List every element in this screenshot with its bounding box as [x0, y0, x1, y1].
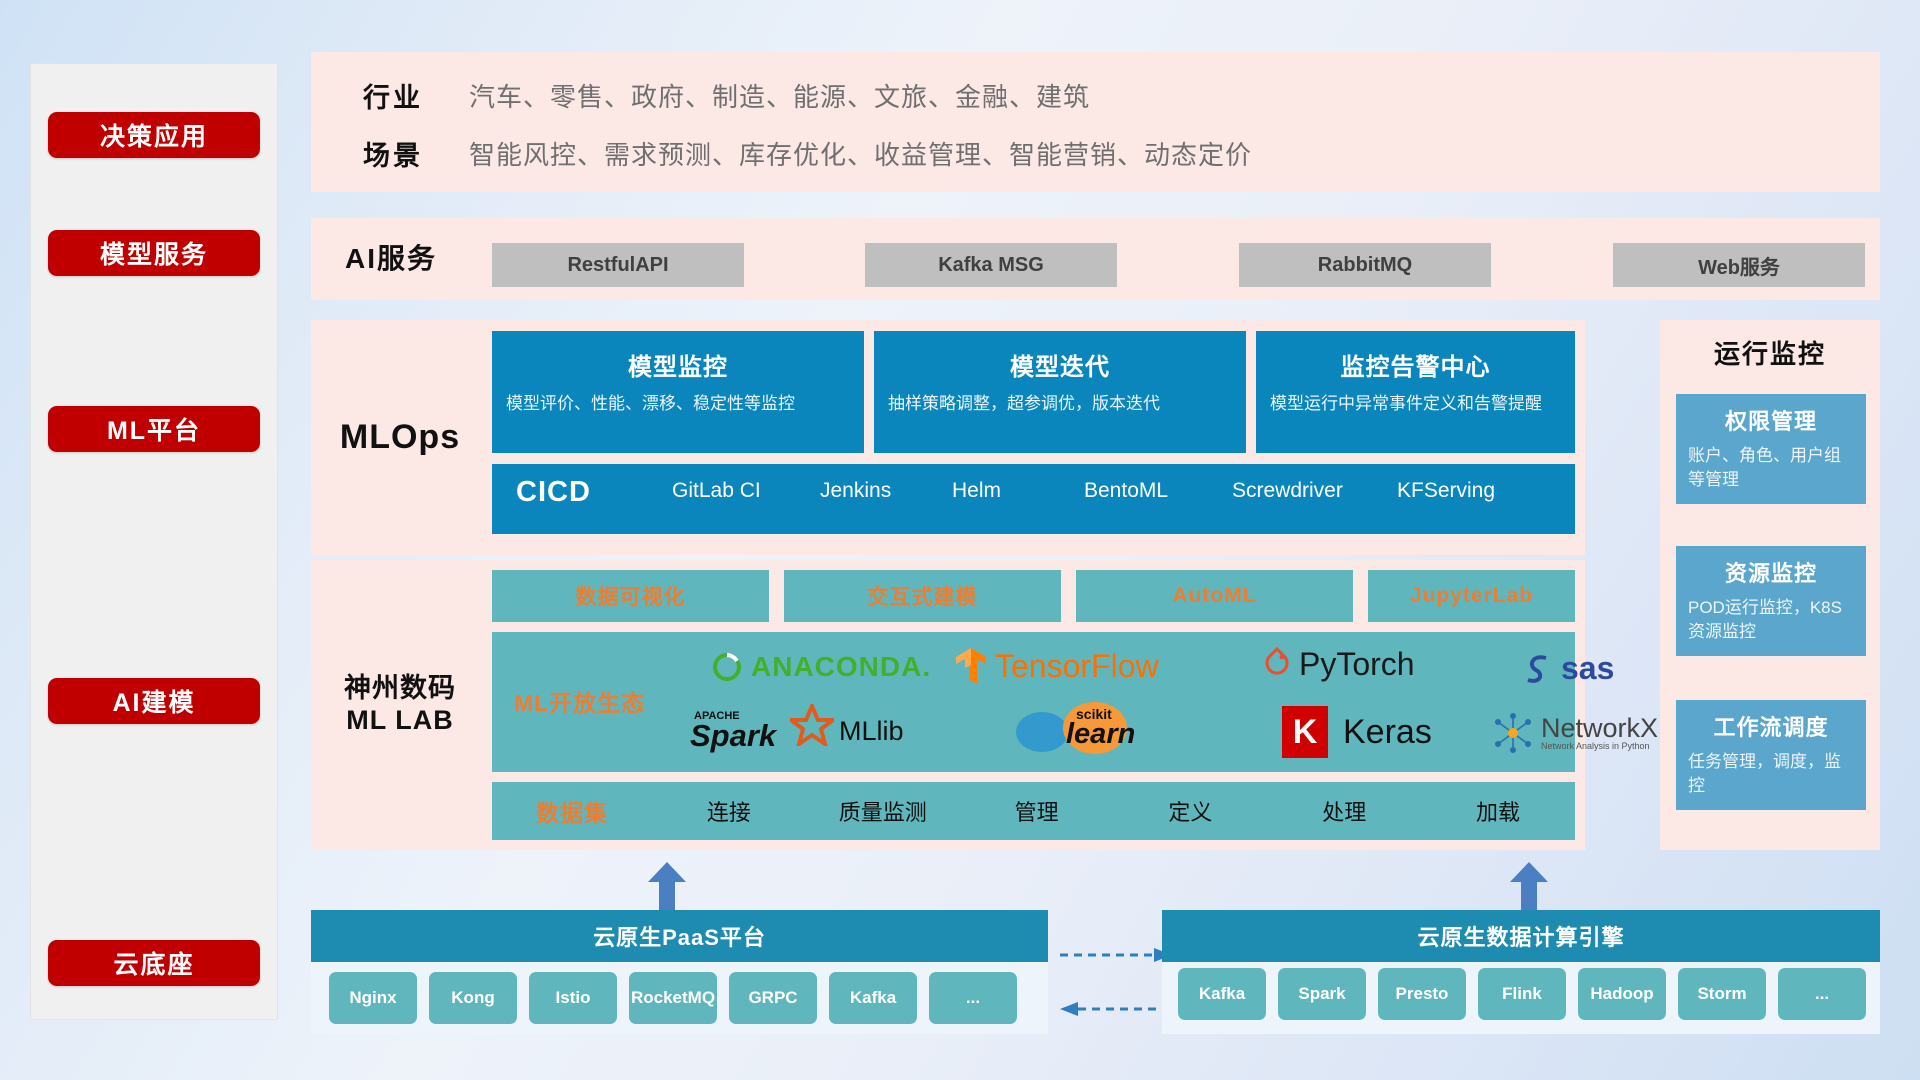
anaconda-icon: [710, 650, 744, 684]
cloud-paas-header: 云原生PaaS平台: [311, 910, 1048, 962]
tensorflow-logo: TensorFlow: [954, 646, 1159, 686]
cicd-item-screwdriver[interactable]: Screwdriver: [1232, 478, 1347, 504]
mlops-card-title: 监控告警中心: [1270, 347, 1561, 382]
tool-chip-interactive-modeling[interactable]: 交互式建模: [784, 570, 1061, 622]
cicd-item-bentoml[interactable]: BentoML: [1084, 478, 1199, 504]
dataset-item-manage[interactable]: 管理: [960, 795, 1114, 827]
layer-chip-decision-app[interactable]: 决策应用: [48, 112, 260, 158]
dataset-band: 数据集 连接 质量监测 管理 定义 处理 加载: [492, 782, 1575, 840]
ai-service-label: AI服务: [311, 218, 471, 300]
paas-chip-grpc[interactable]: GRPC: [729, 972, 817, 1024]
monitoring-card-desc: POD运行监控，K8S资源监控: [1688, 596, 1854, 644]
networkx-logo: NetworkX Network Analysis in Python: [1492, 712, 1658, 754]
keras-mark: K: [1282, 706, 1328, 758]
monitoring-card-desc: 任务管理，调度，监控: [1688, 750, 1854, 798]
cicd-item-kfserving[interactable]: KFServing: [1397, 478, 1512, 504]
dataset-item-load[interactable]: 加载: [1421, 795, 1575, 827]
mlops-card-model-iteration[interactable]: 模型迭代 抽样策略调整，超参调优，版本迭代: [874, 331, 1246, 453]
mlops-card-desc: 抽样策略调整，超参调优，版本迭代: [888, 392, 1232, 417]
mlops-card-desc: 模型评价、性能、漂移、稳定性等监控: [506, 392, 850, 417]
paas-chip-rocketmq[interactable]: RocketMQ: [629, 972, 717, 1024]
monitoring-card-title: 工作流调度: [1688, 710, 1854, 742]
dashed-arrow-left-icon: [1060, 1000, 1172, 1018]
networkx-logo-text: NetworkX: [1541, 714, 1658, 742]
tensorflow-icon: [954, 646, 988, 686]
engine-chip-flink[interactable]: Flink: [1478, 968, 1566, 1020]
cicd-item-jenkins[interactable]: Jenkins: [820, 478, 935, 504]
pytorch-icon: [1262, 647, 1292, 683]
paas-chip-kong[interactable]: Kong: [429, 972, 517, 1024]
scenario-values: 智能风控、需求预测、库存优化、收益管理、智能营销、动态定价: [469, 130, 1252, 176]
service-button-restfulapi[interactable]: RestfulAPI: [492, 243, 744, 287]
ml-lab-label-line2: ML LAB: [344, 705, 456, 737]
mllib-text: MLlib: [839, 716, 904, 747]
keras-logo-text: Keras: [1343, 713, 1432, 752]
tensorflow-logo-text: TensorFlow: [995, 648, 1159, 685]
pytorch-logo: PyTorch: [1262, 646, 1415, 683]
anaconda-logo-text: ANACONDA.: [751, 651, 931, 683]
monitoring-card-title: 资源监控: [1688, 556, 1854, 588]
service-button-rabbitmq[interactable]: RabbitMQ: [1239, 243, 1491, 287]
dataset-item-quality[interactable]: 质量监测: [806, 795, 960, 827]
ml-lab-label-line1: 神州数码: [344, 673, 456, 705]
service-button-kafka-msg[interactable]: Kafka MSG: [865, 243, 1117, 287]
monitoring-card-title: 权限管理: [1688, 404, 1854, 436]
networkx-icon: [1492, 712, 1534, 754]
up-arrow-data-engine-icon: [1510, 862, 1548, 914]
spark-mllib-logo: APACHE Spark MLlib: [690, 708, 904, 754]
monitoring-card-resource[interactable]: 资源监控 POD运行监控，K8S资源监控: [1676, 546, 1866, 656]
spark-word-text: Spark: [690, 718, 776, 754]
paas-chip-nginx[interactable]: Nginx: [329, 972, 417, 1024]
dataset-label: 数据集: [492, 794, 652, 828]
mlops-card-desc: 模型运行中异常事件定义和告警提醒: [1270, 392, 1561, 417]
mlops-label: MLOps: [311, 320, 489, 555]
layer-chip-ai-modeling[interactable]: AI建模: [48, 678, 260, 724]
scenario-label: 场景: [333, 130, 453, 176]
cicd-bar: CICD GitLab CI Jenkins Helm BentoML Scre…: [492, 464, 1575, 534]
paas-chip-istio[interactable]: Istio: [529, 972, 617, 1024]
paas-chip-kafka[interactable]: Kafka: [829, 972, 917, 1024]
mlops-card-model-monitoring[interactable]: 模型监控 模型评价、性能、漂移、稳定性等监控: [492, 331, 864, 453]
monitoring-card-permission[interactable]: 权限管理 账户、角色、用户组等管理: [1676, 394, 1866, 504]
cicd-item-helm[interactable]: Helm: [952, 478, 1067, 504]
layer-chip-ml-platform[interactable]: ML平台: [48, 406, 260, 452]
architecture-diagram: 决策应用 模型服务 ML平台 AI建模 云底座 行业 汽车、零售、政府、制造、能…: [0, 0, 1920, 1080]
sas-logo-text: sas: [1561, 650, 1614, 687]
industry-scenario-panel: 行业 汽车、零售、政府、制造、能源、文旅、金融、建筑 场景 智能风控、需求预测、…: [311, 52, 1880, 192]
monitoring-card-workflow[interactable]: 工作流调度 任务管理，调度，监控: [1676, 700, 1866, 810]
dataset-item-define[interactable]: 定义: [1113, 795, 1267, 827]
paas-chip-more[interactable]: ...: [929, 972, 1017, 1024]
tool-chip-jupyterlab[interactable]: JupyterLab: [1368, 570, 1575, 622]
spark-mark: APACHE Spark: [690, 708, 830, 754]
mlops-card-title: 模型监控: [506, 347, 850, 382]
scikit-learn-logo: scikit learn: [1014, 704, 1150, 756]
dataset-item-process[interactable]: 处理: [1267, 795, 1421, 827]
ml-lab-label: 神州数码 ML LAB: [311, 560, 489, 850]
tool-chip-data-visualization[interactable]: 数据可视化: [492, 570, 769, 622]
ml-ecosystem-label: ML开放生态: [514, 684, 645, 718]
monitoring-title: 运行监控: [1660, 326, 1880, 378]
layer-chip-model-service[interactable]: 模型服务: [48, 230, 260, 276]
layer-rail: [30, 63, 278, 1020]
cloud-data-engine-header: 云原生数据计算引擎: [1162, 910, 1880, 962]
dataset-item-connect[interactable]: 连接: [652, 795, 806, 827]
engine-chip-presto[interactable]: Presto: [1378, 968, 1466, 1020]
industry-label: 行业: [333, 72, 453, 118]
ml-ecosystem-band: ML开放生态 ANACONDA. TensorFlow PyTorch: [492, 632, 1575, 772]
service-button-web-service[interactable]: Web服务: [1613, 243, 1865, 287]
dashed-arrow-right-icon: [1060, 946, 1172, 964]
mlops-card-title: 模型迭代: [888, 347, 1232, 382]
anaconda-logo: ANACONDA.: [710, 650, 931, 684]
engine-chip-spark[interactable]: Spark: [1278, 968, 1366, 1020]
keras-logo: K Keras: [1282, 706, 1432, 758]
layer-chip-cloud-base[interactable]: 云底座: [48, 940, 260, 986]
industry-values: 汽车、零售、政府、制造、能源、文旅、金融、建筑: [469, 72, 1090, 118]
cicd-item-gitlab-ci[interactable]: GitLab CI: [672, 478, 787, 504]
engine-chip-more[interactable]: ...: [1778, 968, 1866, 1020]
engine-chip-storm[interactable]: Storm: [1678, 968, 1766, 1020]
sas-logo: sas: [1522, 650, 1614, 687]
monitoring-card-desc: 账户、角色、用户组等管理: [1688, 444, 1854, 492]
networkx-tagline: Network Analysis in Python: [1541, 742, 1658, 751]
mlops-card-alert-center[interactable]: 监控告警中心 模型运行中异常事件定义和告警提醒: [1256, 331, 1575, 453]
engine-chip-hadoop[interactable]: Hadoop: [1578, 968, 1666, 1020]
engine-chip-kafka[interactable]: Kafka: [1178, 968, 1266, 1020]
tool-chip-automl[interactable]: AutoML: [1076, 570, 1353, 622]
spark-star-icon: [790, 704, 834, 746]
scikit-learn-text: learn: [1066, 718, 1135, 751]
pytorch-logo-text: PyTorch: [1299, 646, 1415, 683]
sas-icon: [1522, 652, 1554, 686]
cicd-title: CICD: [516, 476, 591, 509]
up-arrow-paas-icon: [648, 862, 686, 914]
